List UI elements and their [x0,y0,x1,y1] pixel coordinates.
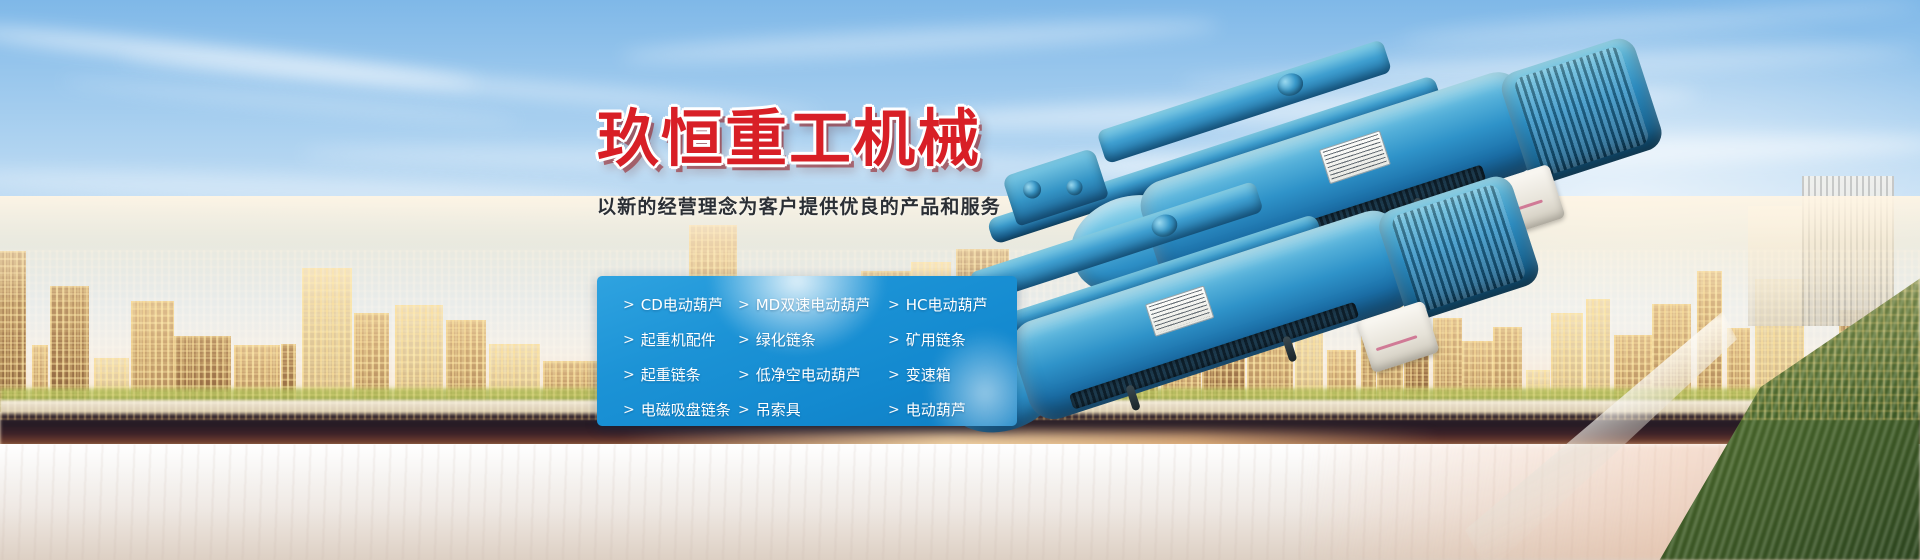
product-link[interactable]: >起重机配件 [623,329,738,350]
product-link-label: 起重链条 [641,364,701,385]
chevron-right-icon: > [623,333,635,347]
product-link-label: 变速箱 [906,364,951,385]
hero-banner: 玖恒重工机械 以新的经营理念为客户提供优良的产品和服务 >CD电动葫芦>MD双速… [0,0,1920,560]
product-link-label: 吊索具 [756,399,801,420]
chevron-right-icon: > [738,403,750,417]
product-link[interactable]: >电动葫芦 [888,399,1017,420]
product-link-label: CD电动葫芦 [641,294,723,315]
product-link[interactable]: >矿用链条 [888,329,1017,350]
product-link[interactable]: >低净空电动葫芦 [738,364,888,385]
chevron-right-icon: > [623,298,635,312]
product-link[interactable]: >绿化链条 [738,329,888,350]
product-link-label: 绿化链条 [756,329,816,350]
product-link-label: MD双速电动葫芦 [756,294,871,315]
chevron-right-icon: > [888,368,900,382]
chevron-right-icon: > [623,403,635,417]
product-link[interactable]: >HC电动葫芦 [888,294,1017,315]
chevron-right-icon: > [888,333,900,347]
product-link-label: 起重机配件 [641,329,716,350]
chevron-right-icon: > [738,298,750,312]
product-link[interactable]: >CD电动葫芦 [623,294,738,315]
chevron-right-icon: > [738,368,750,382]
product-link[interactable]: >变速箱 [888,364,1017,385]
product-link-label: HC电动葫芦 [906,294,988,315]
product-link[interactable]: >MD双速电动葫芦 [738,294,888,315]
product-link[interactable]: >电磁吸盘链条 [623,399,738,420]
banner-text-block: 玖恒重工机械 以新的经营理念为客户提供优良的产品和服务 [597,108,1027,219]
product-link-label: 矿用链条 [906,329,966,350]
chevron-right-icon: > [738,333,750,347]
chevron-right-icon: > [623,368,635,382]
product-link-label: 低净空电动葫芦 [756,364,861,385]
product-links-grid: >CD电动葫芦>MD双速电动葫芦>HC电动葫芦>起重机配件>绿化链条>矿用链条>… [597,276,1017,426]
page-title: 玖恒重工机械 [597,108,1027,170]
product-link-label: 电动葫芦 [906,399,966,420]
product-links-panel: >CD电动葫芦>MD双速电动葫芦>HC电动葫芦>起重机配件>绿化链条>矿用链条>… [597,276,1017,426]
product-link-label: 电磁吸盘链条 [641,399,731,420]
chevron-right-icon: > [888,403,900,417]
product-link[interactable]: >起重链条 [623,364,738,385]
chevron-right-icon: > [888,298,900,312]
product-link[interactable]: >吊索具 [738,399,888,420]
page-subtitle: 以新的经营理念为客户提供优良的产品和服务 [597,192,1027,219]
